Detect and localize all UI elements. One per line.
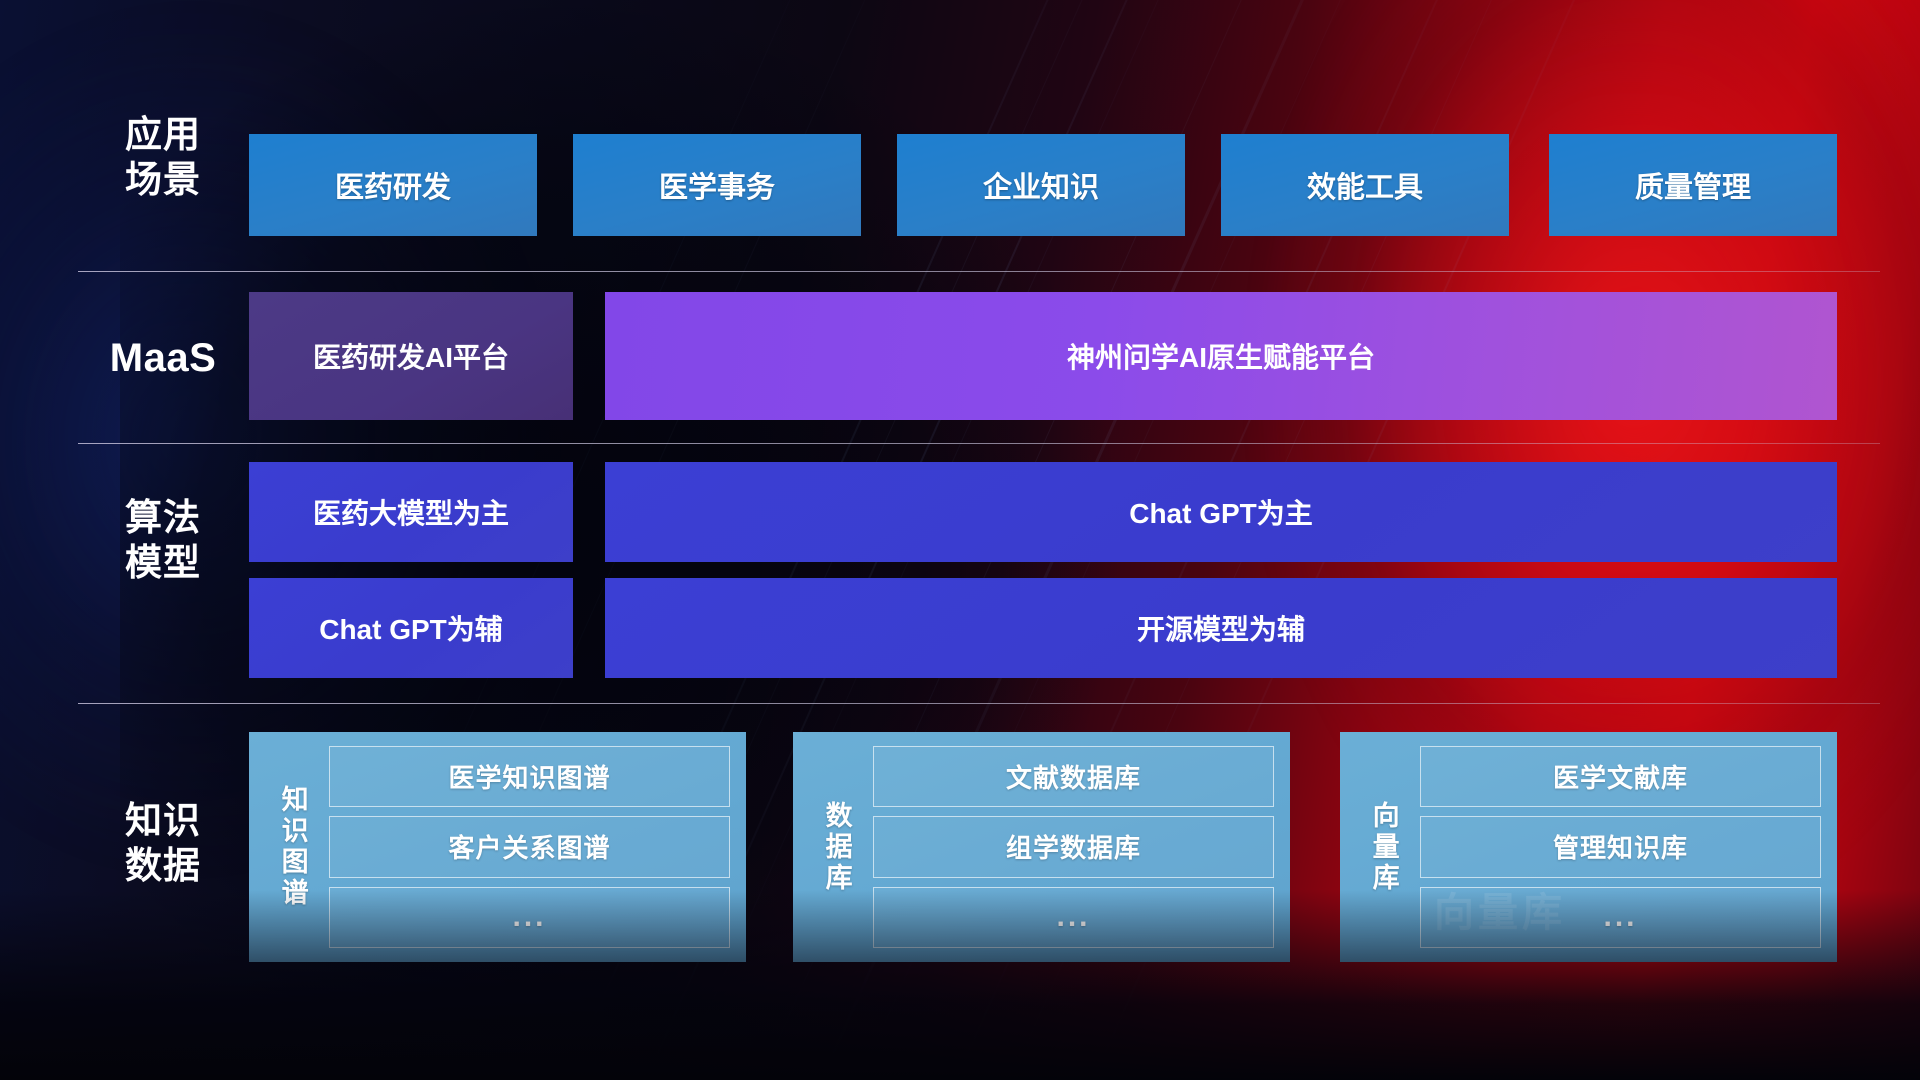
scenario-box-2[interactable]: 医学事务 [573, 134, 861, 236]
maas-platform-box-pharma[interactable]: 医药研发AI平台 [249, 292, 573, 420]
row-label-knowledge-line-1: 知识 [78, 798, 248, 843]
scenario-label-2: 医学事务 [659, 164, 775, 206]
scenario-label-5: 质量管理 [1635, 164, 1751, 206]
row-label-maas-text: MaaS [78, 334, 248, 383]
scenario-box-5[interactable]: 质量管理 [1549, 134, 1837, 236]
model-box-right-2[interactable]: 开源模型为辅 [605, 578, 1837, 678]
maas-platform-box-shenzhou[interactable]: 神州问学AI原生赋能平台 [605, 292, 1837, 420]
scenario-box-3[interactable]: 企业知识 [897, 134, 1185, 236]
row-label-algorithm-line-2: 模型 [78, 540, 248, 585]
knowledge-group-title-database: 数据库 [799, 801, 873, 894]
row-label-line-2: 场景 [78, 157, 248, 202]
model-label-right-1: Chat GPT为主 [1129, 492, 1313, 532]
model-box-left-1[interactable]: 医药大模型为主 [249, 462, 573, 562]
model-box-right-1[interactable]: Chat GPT为主 [605, 462, 1837, 562]
knowledge-item-graph-1[interactable]: 医学知识图谱 [329, 746, 730, 807]
row-label-knowledge-line-2: 数据 [78, 843, 248, 888]
row-label-knowledge-data: 知识 数据 [78, 798, 248, 888]
scenario-label-4: 效能工具 [1307, 164, 1423, 206]
model-box-left-2[interactable]: Chat GPT为辅 [249, 578, 573, 678]
knowledge-item-database-1[interactable]: 文献数据库 [873, 746, 1274, 807]
maas-platform-label-shenzhou: 神州问学AI原生赋能平台 [1067, 336, 1375, 376]
knowledge-item-vector-1[interactable]: 医学文献库 [1420, 746, 1821, 807]
divider-3 [78, 703, 1880, 704]
knowledge-item-database-2[interactable]: 组学数据库 [873, 816, 1274, 877]
scenario-box-1[interactable]: 医药研发 [249, 134, 537, 236]
bottom-fade-overlay [0, 890, 1920, 1080]
divider-1 [78, 271, 1880, 272]
maas-platform-label-pharma: 医药研发AI平台 [313, 336, 509, 376]
model-label-left-1: 医药大模型为主 [313, 492, 509, 532]
row-label-algorithm-line-1: 算法 [78, 495, 248, 540]
knowledge-item-vector-2[interactable]: 管理知识库 [1420, 816, 1821, 877]
knowledge-item-graph-2[interactable]: 客户关系图谱 [329, 816, 730, 877]
model-label-left-2: Chat GPT为辅 [319, 608, 503, 648]
row-label-maas: MaaS [78, 334, 248, 383]
architecture-diagram: 应用 场景 医药研发 医学事务 企业知识 效能工具 质量管理 MaaS 医药研发… [0, 0, 1920, 1080]
scenario-label-3: 企业知识 [983, 164, 1099, 206]
scenario-label-1: 医药研发 [335, 164, 451, 206]
row-label-algorithm-model: 算法 模型 [78, 495, 248, 585]
scenario-box-4[interactable]: 效能工具 [1221, 134, 1509, 236]
knowledge-group-title-vector: 向量库 [1346, 801, 1420, 894]
model-label-right-2: 开源模型为辅 [1137, 608, 1305, 648]
row-label-line-1: 应用 [78, 112, 248, 157]
divider-2 [78, 443, 1880, 444]
row-label-application-scenario: 应用 场景 [78, 112, 248, 202]
